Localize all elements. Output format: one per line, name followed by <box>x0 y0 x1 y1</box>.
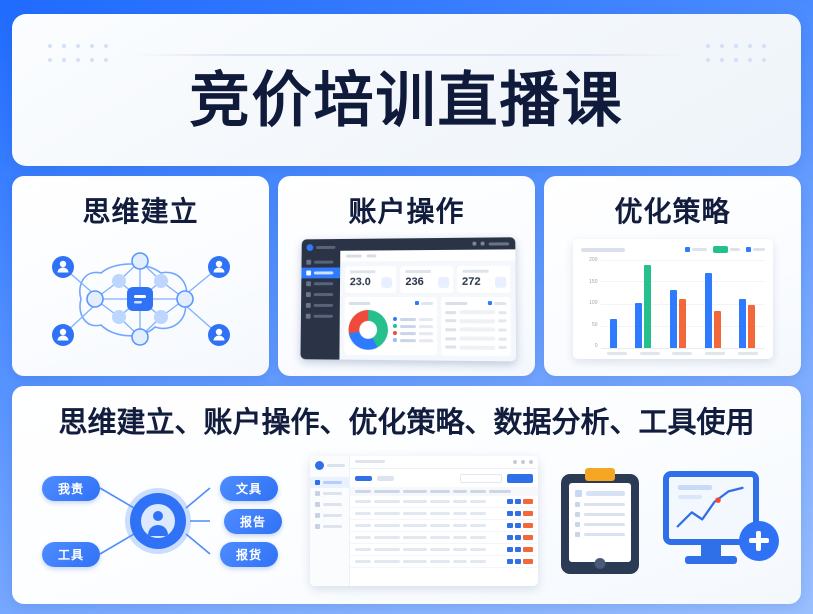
feature-cards-row: 思维建立 <box>12 176 801 376</box>
sidebar-item-active[interactable] <box>310 477 349 488</box>
clipboard-paper <box>569 483 631 562</box>
y-tick: 50 <box>592 323 598 328</box>
mindmap-node[interactable]: 工具 <box>42 542 100 567</box>
page-title: 竞价培训直播课 <box>190 71 624 131</box>
chart-title <box>581 248 625 252</box>
line-chart-icon <box>669 477 753 539</box>
mindmap-node[interactable]: 文具 <box>220 476 278 501</box>
mindmap-node[interactable]: 我责 <box>42 476 100 501</box>
stat-card: 272 <box>457 266 511 293</box>
table-row[interactable] <box>350 520 538 532</box>
table-row[interactable] <box>350 532 538 544</box>
feature-card-strategy[interactable]: 优化策略 200 150 <box>544 176 801 376</box>
sidebar-item[interactable] <box>301 300 340 311</box>
home-button-icon <box>595 558 606 569</box>
table-header-row <box>350 487 538 496</box>
sidebar-item[interactable] <box>310 499 349 510</box>
x-tick <box>607 352 627 355</box>
dot-grid-icon-right <box>706 44 771 67</box>
y-tick: 150 <box>589 280 597 285</box>
bar-group <box>610 258 617 348</box>
stat-cards-row: 23.0 236 272 <box>340 260 516 293</box>
bar-group <box>670 258 686 348</box>
topbar-icons[interactable] <box>513 460 533 464</box>
stat-value: 23.0 <box>350 277 376 288</box>
stat-value: 236 <box>405 277 431 288</box>
stat-icon <box>382 277 393 288</box>
network-nodes-icon <box>33 239 248 359</box>
x-tick <box>705 352 725 355</box>
data-table-screenshot <box>310 456 538 586</box>
sidebar-item[interactable] <box>301 311 340 322</box>
table-row[interactable] <box>350 508 538 520</box>
donut-panel <box>344 297 437 356</box>
donut-chart-icon <box>348 309 388 349</box>
search-button[interactable] <box>507 474 533 483</box>
y-tick: 0 <box>595 344 598 349</box>
feature-card-title: 账户操作 <box>348 190 464 230</box>
stat-card: 23.0 <box>345 266 397 293</box>
bar-list-icon <box>445 308 507 352</box>
app-logo <box>310 461 349 477</box>
header-divider <box>130 54 691 56</box>
poster-root: 竞价培训直播课 思维建立 <box>0 0 813 614</box>
stat-value: 272 <box>462 277 489 288</box>
feature-card-title: 思维建立 <box>82 190 198 230</box>
sidebar-item[interactable] <box>301 278 340 289</box>
monitor-stand <box>701 545 721 556</box>
x-tick <box>738 352 758 355</box>
mindmap-node[interactable]: 报货 <box>220 542 278 567</box>
bar-list-panel <box>441 297 511 356</box>
sidebar-item[interactable] <box>310 510 349 521</box>
table-row[interactable] <box>350 544 538 556</box>
x-tick <box>640 352 660 355</box>
sidebar-item[interactable] <box>301 289 340 300</box>
chart-y-axis: 200 150 100 50 0 <box>581 258 601 349</box>
chart-header <box>581 246 765 253</box>
bar-chart-screenshot: 200 150 100 50 0 <box>544 230 801 376</box>
header-card: 竞价培训直播课 <box>12 14 801 166</box>
y-tick: 100 <box>589 301 597 306</box>
table-body <box>350 456 538 586</box>
chart-x-axis <box>581 352 765 355</box>
mindmap-node[interactable]: 报告 <box>224 509 282 534</box>
chart-grid <box>601 258 765 349</box>
feature-card-title: 优化策略 <box>614 190 730 230</box>
dot-grid-icon-left <box>48 44 113 67</box>
dashboard-body: 23.0 236 272 <box>339 237 516 361</box>
sidebar-item[interactable] <box>310 521 349 532</box>
x-tick <box>672 352 692 355</box>
dashboard-panels <box>339 293 516 361</box>
chart-legend <box>685 246 765 253</box>
bottom-card: 思维建立、账户操作、优化策略、数据分析、工具使用 我责 文具 报告 工具 <box>12 386 801 604</box>
stat-icon <box>495 277 506 288</box>
bar-group <box>739 258 755 348</box>
bottom-headline: 思维建立、账户操作、优化策略、数据分析、工具使用 <box>26 399 787 441</box>
plus-icon[interactable] <box>739 521 779 561</box>
donut-legend <box>393 317 433 342</box>
bar-group <box>635 258 651 348</box>
sidebar-item[interactable] <box>310 488 349 499</box>
y-tick: 200 <box>589 258 597 263</box>
dashboard-logo <box>302 244 341 257</box>
stat-card: 236 <box>400 266 453 293</box>
table-sidebar <box>310 456 350 586</box>
bottom-illustrations: 我责 文具 报告 工具 报货 <box>26 441 787 594</box>
stat-icon <box>438 277 449 288</box>
dashboard-sidebar <box>300 239 340 360</box>
monitor-line-chart-icon <box>663 467 779 575</box>
feature-card-thinking[interactable]: 思维建立 <box>12 176 269 376</box>
monitor-base <box>685 556 737 564</box>
filter-tab[interactable] <box>377 476 394 481</box>
search-input[interactable] <box>460 474 502 483</box>
clipboard-clamp-icon <box>585 468 615 481</box>
table-row[interactable] <box>350 556 538 568</box>
bar-group <box>705 258 721 348</box>
dashboard-mock: 23.0 236 272 <box>300 237 516 361</box>
table-row[interactable] <box>350 496 538 508</box>
filter-tab-active[interactable] <box>355 476 372 481</box>
table-topbar <box>350 456 538 469</box>
network-nodes-illustration <box>12 230 269 376</box>
sidebar-item-active[interactable] <box>301 267 340 278</box>
clipboard-checklist-icon <box>561 468 639 574</box>
dashboard-screenshot: 23.0 236 272 <box>278 230 535 376</box>
bar-chart-card: 200 150 100 50 0 <box>573 239 773 359</box>
chart-bars <box>601 258 765 348</box>
chart-plot: 200 150 100 50 0 <box>581 258 765 349</box>
mindmap-illustration: 我责 文具 报告 工具 报货 <box>34 462 286 580</box>
user-avatar-icon <box>130 493 186 549</box>
sidebar-item[interactable] <box>301 257 340 268</box>
table-filters <box>350 469 538 487</box>
feature-card-account[interactable]: 账户操作 <box>278 176 535 376</box>
